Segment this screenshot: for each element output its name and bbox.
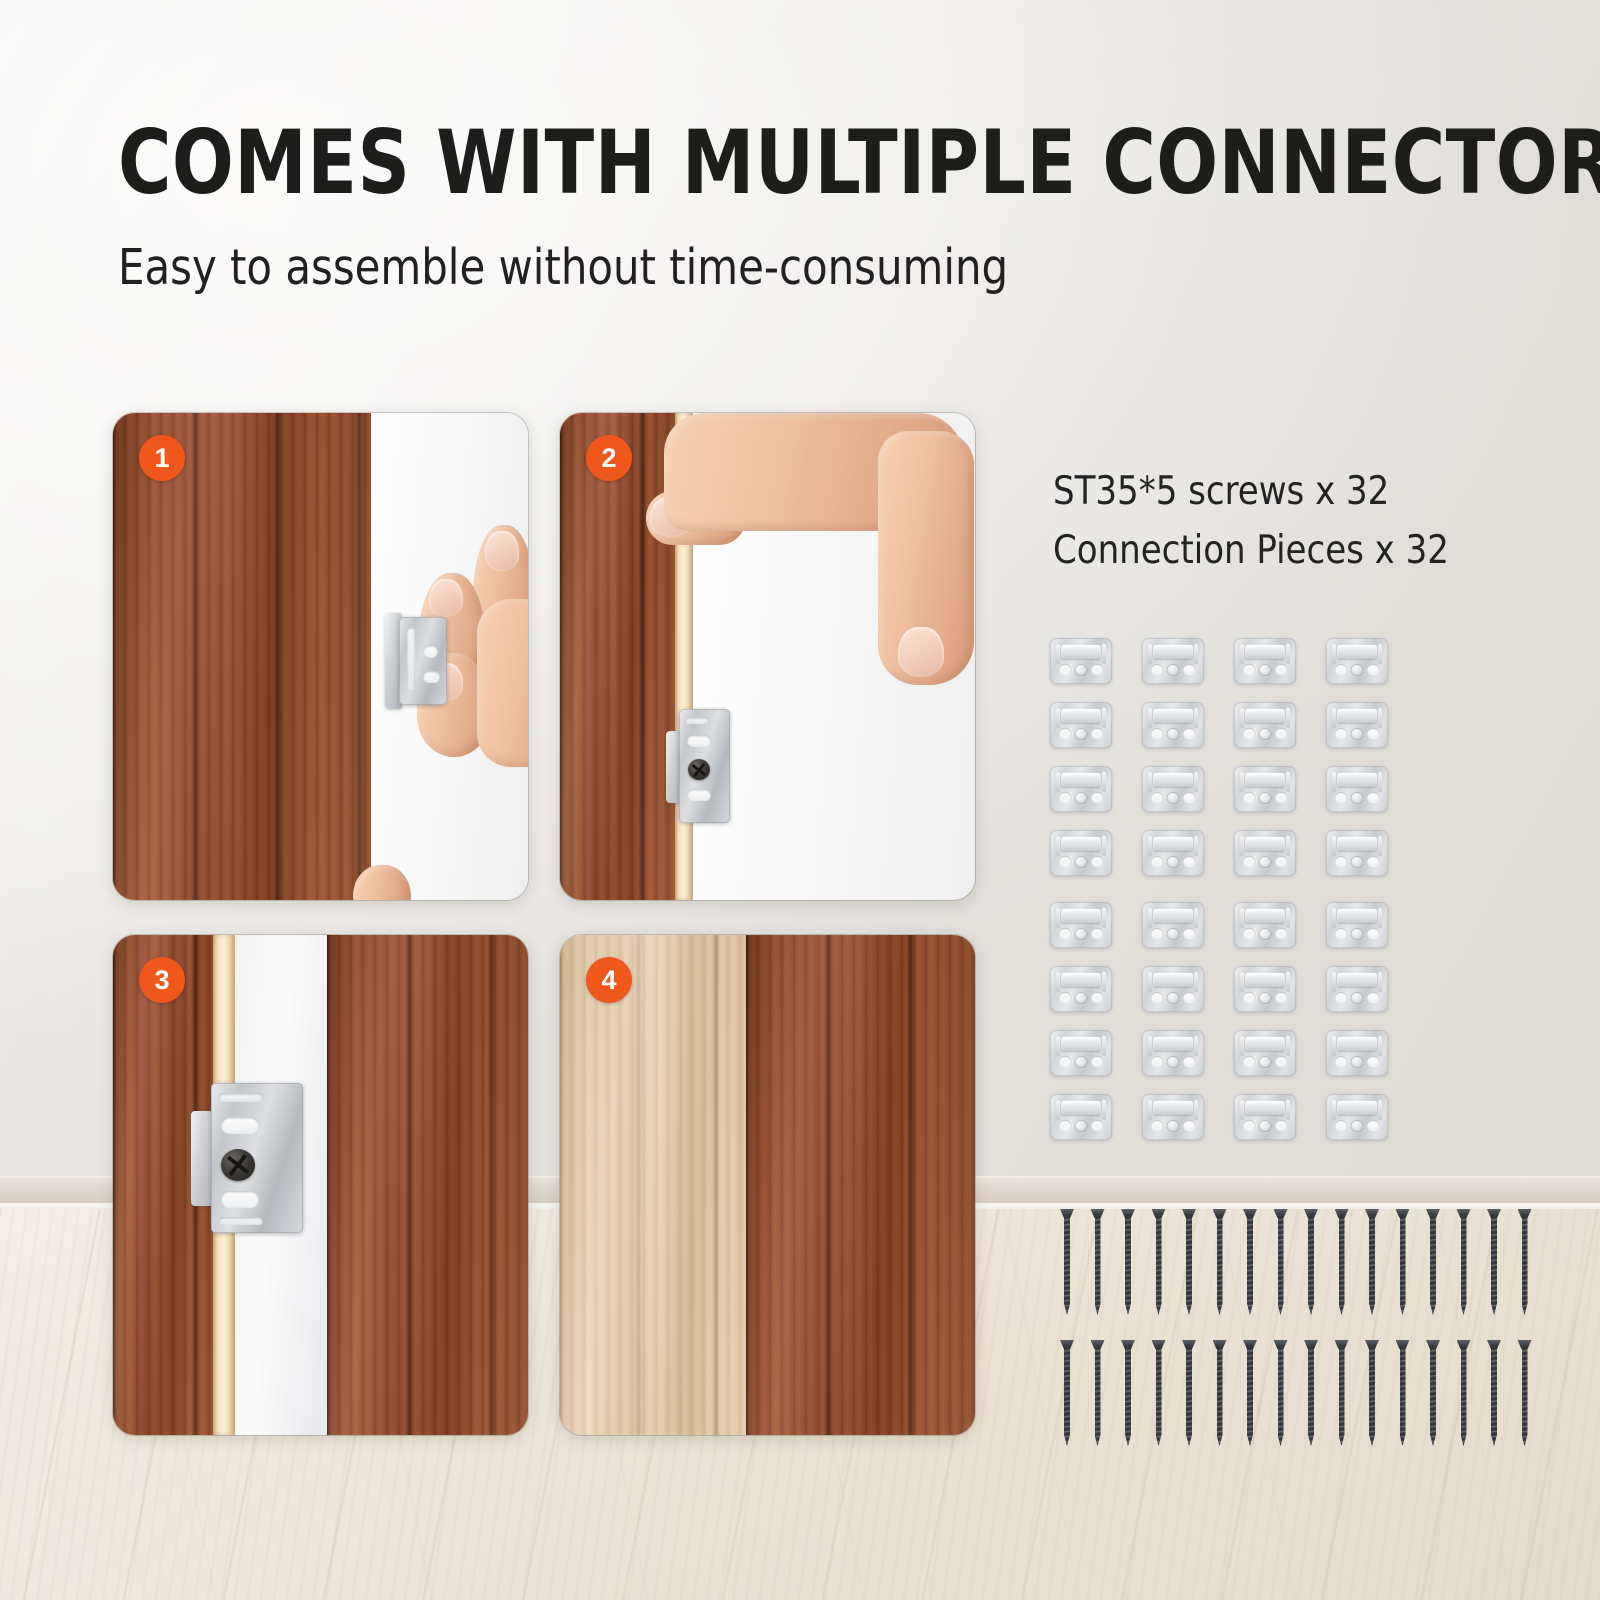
screw-shaft (1430, 1348, 1436, 1446)
screw-shaft (1095, 1217, 1101, 1315)
connector-hole-right (1183, 1056, 1195, 1067)
screw-shaft (1247, 1348, 1253, 1446)
bracket-screw (688, 759, 710, 780)
connector-rail-left (1332, 1036, 1336, 1056)
connection-piece (1326, 1094, 1388, 1140)
connection-piece (1050, 966, 1112, 1012)
screw-head (1060, 1340, 1074, 1349)
screw-shaft (1156, 1217, 1162, 1315)
connection-piece (1326, 766, 1388, 812)
connector-hole-left (1059, 1056, 1071, 1067)
connector-rail-left (1148, 772, 1152, 792)
screw-head (1121, 1209, 1135, 1218)
connector-rail-right (1286, 908, 1290, 928)
screw-shaft (1278, 1348, 1284, 1446)
screw (1216, 1340, 1224, 1446)
connector-center-hole (1075, 664, 1088, 676)
screw-head (1365, 1209, 1379, 1218)
connection-piece (1142, 1030, 1204, 1076)
screw (1063, 1340, 1071, 1446)
dark-wood-panel (746, 935, 975, 1435)
connector-center-hole (1167, 928, 1180, 940)
connector-hole-left (1059, 928, 1071, 939)
connector-center-hole (1259, 728, 1272, 740)
screw-head (1213, 1340, 1227, 1349)
screw (1094, 1340, 1102, 1446)
connector-rail-right (1102, 972, 1106, 992)
connector-hole-right (1091, 992, 1103, 1003)
connector-hole-right (1275, 992, 1287, 1003)
screw (1521, 1209, 1529, 1315)
connector-rail-right (1378, 644, 1382, 664)
connection-piece (1142, 830, 1204, 876)
connector-hole-left (1059, 1120, 1071, 1131)
connector-rail-left (1148, 644, 1152, 664)
connection-piece (1050, 830, 1112, 876)
metal-connector-bracket (666, 709, 730, 823)
connector-hole-right (1275, 728, 1287, 739)
connector-hole-right (1275, 664, 1287, 675)
screw-shaft (1186, 1348, 1192, 1446)
connector-top-flange (1153, 909, 1193, 923)
step-panel-2[interactable]: 2 (560, 413, 975, 900)
connector-center-hole (1351, 664, 1364, 676)
connection-piece (1050, 766, 1112, 812)
connector-rail-right (1102, 908, 1106, 928)
connector-hole-left (1059, 856, 1071, 867)
connector-top-flange (1061, 773, 1101, 787)
connector-rail-left (1056, 1036, 1060, 1056)
metal-connector-bracket (385, 613, 447, 709)
connector-top-flange (1337, 973, 1377, 987)
connector-center-hole (1351, 1056, 1364, 1068)
connector-hole-left (1243, 1120, 1255, 1131)
connector-top-flange (1061, 837, 1101, 851)
connector-rail-right (1194, 1036, 1198, 1056)
connection-piece (1050, 902, 1112, 948)
connector-grid-group-b (1050, 902, 1388, 1140)
screw-row (1063, 1209, 1529, 1315)
connector-hole-right (1275, 792, 1287, 803)
connector-hole-right (1091, 856, 1103, 867)
connector-center-hole (1259, 664, 1272, 676)
connector-top-flange (1245, 1101, 1285, 1115)
screw-shaft (1522, 1217, 1528, 1315)
connector-hole-right (1367, 664, 1379, 675)
screw (1277, 1340, 1285, 1446)
connector-rail-right (1378, 908, 1382, 928)
connector-rail-right (1102, 1036, 1106, 1056)
connector-center-hole (1351, 928, 1364, 940)
screw (1124, 1209, 1132, 1315)
screw-shaft (1339, 1348, 1345, 1446)
connector-hole-right (1183, 928, 1195, 939)
screw (1307, 1340, 1315, 1446)
connector-top-flange (1153, 1101, 1193, 1115)
connector-top-flange (1245, 1037, 1285, 1051)
connector-hole-right (1275, 1120, 1287, 1131)
connector-hole-left (1335, 664, 1347, 675)
connector-top-flange (1337, 1101, 1377, 1115)
connector-hole-left (1335, 928, 1347, 939)
connector-hole-right (1275, 928, 1287, 939)
connector-center-hole (1075, 1120, 1088, 1132)
connector-center-hole (1167, 1120, 1180, 1132)
connector-rail-right (1286, 708, 1290, 728)
screw (1277, 1209, 1285, 1315)
step-badge-4: 4 (586, 957, 632, 1003)
screw-shaft (1308, 1348, 1314, 1446)
connector-top-flange (1337, 709, 1377, 723)
connector-top-flange (1061, 709, 1101, 723)
connector-center-hole (1351, 856, 1364, 868)
parts-connectors-label: Connection Pieces x 32 (1053, 521, 1449, 580)
screw-shaft (1247, 1217, 1253, 1315)
dark-wood-panel (113, 413, 371, 900)
connection-piece (1234, 830, 1296, 876)
connector-rail-left (1148, 908, 1152, 928)
step-badge-2: 2 (586, 435, 632, 481)
step-panel-4[interactable]: 4 (560, 935, 975, 1435)
connector-top-flange (1061, 909, 1101, 923)
connector-rail-left (1056, 1100, 1060, 1120)
screw-shaft (1461, 1348, 1467, 1446)
connector-hole-left (1243, 992, 1255, 1003)
connector-rail-right (1194, 908, 1198, 928)
connection-piece (1142, 902, 1204, 948)
page-subtitle: Easy to assemble without time-consuming (118, 242, 1600, 293)
connector-hole-right (1183, 728, 1195, 739)
connector-rail-left (1240, 772, 1244, 792)
connector-center-hole (1075, 1056, 1088, 1068)
connector-hole-right (1367, 792, 1379, 803)
connection-piece (1234, 902, 1296, 948)
connector-hole-right (1367, 856, 1379, 867)
screw-head (1060, 1209, 1074, 1218)
screw-shaft (1278, 1217, 1284, 1315)
screw-head (1121, 1340, 1135, 1349)
parts-list: ST35*5 screws x 32 Connection Pieces x 3… (1053, 462, 1461, 581)
connector-hole-right (1091, 728, 1103, 739)
connection-piece (1050, 1094, 1112, 1140)
connector-hole-right (1275, 1056, 1287, 1067)
bracket-hole-upper (687, 735, 711, 747)
connector-center-hole (1075, 728, 1088, 740)
connector-rail-left (1240, 708, 1244, 728)
connector-hole-left (1151, 792, 1163, 803)
connector-rail-right (1286, 772, 1290, 792)
screw-head (1304, 1340, 1318, 1349)
connector-hole-left (1243, 664, 1255, 675)
connector-center-hole (1259, 792, 1272, 804)
connector-hole-right (1183, 1120, 1195, 1131)
connector-rail-left (1240, 908, 1244, 928)
connector-top-flange (1153, 837, 1193, 851)
bracket-hole-lower (687, 789, 711, 801)
connector-rail-right (1378, 1100, 1382, 1120)
connector-rail-left (1148, 1100, 1152, 1120)
screw-head (1182, 1209, 1196, 1218)
step-1-photo: 1 (113, 413, 528, 900)
screw-head (1426, 1209, 1440, 1218)
connector-top-flange (1153, 973, 1193, 987)
connector-top-flange (1337, 837, 1377, 851)
screw (1155, 1209, 1163, 1315)
screw (1094, 1209, 1102, 1315)
connector-rail-right (1194, 772, 1198, 792)
connector-top-flange (1337, 1037, 1377, 1051)
screw (1429, 1209, 1437, 1315)
screw-head (1304, 1209, 1318, 1218)
connector-rail-right (1194, 972, 1198, 992)
connection-piece (1326, 830, 1388, 876)
screw (1399, 1209, 1407, 1315)
connector-rail-right (1378, 708, 1382, 728)
page-title: COMES WITH MULTIPLE CONNECTORS (118, 118, 1600, 208)
connector-hole-left (1151, 664, 1163, 675)
connector-center-hole (1167, 728, 1180, 740)
connector-hole-left (1335, 992, 1347, 1003)
screw-shaft (1217, 1348, 1223, 1446)
connector-hole-left (1243, 792, 1255, 803)
connector-rail-left (1056, 908, 1060, 928)
connector-rail-left (1240, 972, 1244, 992)
parts-screws-label: ST35*5 screws x 32 (1053, 462, 1449, 521)
connector-hole-right (1091, 792, 1103, 803)
screw (1246, 1340, 1254, 1446)
connector-rail-right (1194, 644, 1198, 664)
screw-shaft (1308, 1217, 1314, 1315)
connector-hole-left (1151, 856, 1163, 867)
step-panel-3[interactable]: 3 (113, 935, 528, 1435)
screw (1368, 1209, 1376, 1315)
connector-rail-left (1332, 972, 1336, 992)
connection-piece (1234, 766, 1296, 812)
screw (1307, 1209, 1315, 1315)
connector-top-flange (1337, 645, 1377, 659)
screw (1399, 1340, 1407, 1446)
connector-hole-left (1059, 792, 1071, 803)
screw (1521, 1340, 1529, 1446)
connector-center-hole (1075, 928, 1088, 940)
screw-shaft (1461, 1217, 1467, 1315)
screw-shaft (1217, 1217, 1223, 1315)
connector-top-flange (1337, 773, 1377, 787)
step-panel-1[interactable]: 1 (113, 413, 528, 900)
screw (1155, 1340, 1163, 1446)
bracket-slot-top (219, 1093, 263, 1102)
connector-rail-right (1102, 836, 1106, 856)
connector-hole-right (1183, 792, 1195, 803)
connector-center-hole (1259, 928, 1272, 940)
screw (1185, 1209, 1193, 1315)
connection-piece (1050, 638, 1112, 684)
screw (1338, 1209, 1346, 1315)
connector-rail-right (1194, 1100, 1198, 1120)
screw-shaft (1125, 1348, 1131, 1446)
connector-top-flange (1337, 909, 1377, 923)
connection-piece (1326, 702, 1388, 748)
bracket-hole-upper (423, 645, 438, 658)
connector-center-hole (1167, 664, 1180, 676)
connector-center-hole (1075, 856, 1088, 868)
metal-connector-bracket (191, 1083, 303, 1233)
connector-hole-left (1243, 928, 1255, 939)
connector-top-flange (1245, 645, 1285, 659)
connector-top-flange (1061, 645, 1101, 659)
connector-top-flange (1153, 1037, 1193, 1051)
connection-piece (1326, 966, 1388, 1012)
connector-rail-right (1286, 836, 1290, 856)
connector-hole-right (1367, 1056, 1379, 1067)
connector-rail-right (1194, 836, 1198, 856)
connector-center-hole (1351, 792, 1364, 804)
screw-head (1152, 1209, 1166, 1218)
connector-top-flange (1153, 773, 1193, 787)
connector-hole-right (1367, 928, 1379, 939)
connector-hole-left (1335, 792, 1347, 803)
connector-rail-right (1102, 772, 1106, 792)
screw (1246, 1209, 1254, 1315)
screw-head (1274, 1209, 1288, 1218)
bracket-hole-upper (221, 1117, 259, 1134)
connector-center-hole (1259, 1120, 1272, 1132)
connection-piece (1050, 1030, 1112, 1076)
screw (1124, 1340, 1132, 1446)
connector-top-flange (1061, 973, 1101, 987)
connector-top-flange (1245, 773, 1285, 787)
connector-rail-right (1286, 972, 1290, 992)
connector-rail-left (1056, 772, 1060, 792)
connector-rail-right (1102, 708, 1106, 728)
light-wood-panel (560, 935, 746, 1435)
connector-rail-left (1056, 972, 1060, 992)
screw (1185, 1340, 1193, 1446)
step-badge-1: 1 (139, 435, 185, 481)
connector-center-hole (1167, 792, 1180, 804)
connector-hole-left (1335, 728, 1347, 739)
connector-hole-right (1367, 1120, 1379, 1131)
connector-hole-left (1335, 1120, 1347, 1131)
connection-piece (1326, 1030, 1388, 1076)
step-4-photo: 4 (560, 935, 975, 1435)
connection-piece (1234, 966, 1296, 1012)
connector-hole-left (1335, 856, 1347, 867)
connector-rail-left (1332, 708, 1336, 728)
screw-shaft (1339, 1217, 1345, 1315)
connection-piece (1326, 902, 1388, 948)
connector-rail-left (1148, 1036, 1152, 1056)
connector-hole-right (1367, 728, 1379, 739)
connection-piece (1050, 702, 1112, 748)
connector-top-flange (1245, 973, 1285, 987)
connector-hole-left (1151, 992, 1163, 1003)
screw-head (1091, 1340, 1105, 1349)
connector-top-flange (1153, 709, 1193, 723)
connector-rail-left (1332, 908, 1336, 928)
screw-head (1426, 1340, 1440, 1349)
screw-head (1396, 1340, 1410, 1349)
connector-hole-left (1059, 664, 1071, 675)
connector-center-hole (1351, 1120, 1364, 1132)
bracket-hole-lower (423, 671, 440, 683)
screw (1429, 1340, 1437, 1446)
connector-hole-left (1059, 728, 1071, 739)
connection-piece (1234, 1094, 1296, 1140)
connector-hole-right (1367, 992, 1379, 1003)
bracket-hole-lower (221, 1191, 259, 1208)
connector-rail-left (1332, 644, 1336, 664)
connection-piece (1142, 702, 1204, 748)
hand (646, 413, 975, 713)
connection-piece (1326, 638, 1388, 684)
connector-hole-right (1183, 856, 1195, 867)
connector-hole-right (1275, 856, 1287, 867)
connection-piece (1142, 1094, 1204, 1140)
screw (1490, 1209, 1498, 1315)
connector-top-flange (1245, 837, 1285, 851)
connector-hole-left (1151, 928, 1163, 939)
bracket-screw (221, 1149, 255, 1181)
connector-rail-left (1148, 836, 1152, 856)
screw (1460, 1209, 1468, 1315)
connector-rail-left (1332, 836, 1336, 856)
connector-rail-left (1148, 972, 1152, 992)
screw-shaft (1491, 1348, 1497, 1446)
screw-shaft (1369, 1217, 1375, 1315)
screw-shaft (1369, 1348, 1375, 1446)
screw-head (1243, 1340, 1257, 1349)
connector-grid-group-a (1050, 638, 1388, 876)
screw-head (1457, 1340, 1471, 1349)
connection-piece (1142, 766, 1204, 812)
connector-rail-right (1286, 644, 1290, 664)
connector-rail-left (1332, 1100, 1336, 1120)
connector-rail-right (1102, 1100, 1106, 1120)
connection-piece (1234, 702, 1296, 748)
screw-head (1182, 1340, 1196, 1349)
screw-shaft (1400, 1348, 1406, 1446)
screw-head (1457, 1209, 1471, 1218)
screw-shaft (1400, 1217, 1406, 1315)
connector-hole-right (1091, 1056, 1103, 1067)
connector-hole-right (1091, 1120, 1103, 1131)
screw-head (1152, 1340, 1166, 1349)
connector-rail-left (1240, 836, 1244, 856)
connector-rail-left (1332, 772, 1336, 792)
index-fingernail (485, 531, 519, 571)
screw (1490, 1340, 1498, 1446)
screw (1063, 1209, 1071, 1315)
screw-head (1274, 1340, 1288, 1349)
connector-rail-right (1194, 708, 1198, 728)
connector-center-hole (1075, 792, 1088, 804)
connector-top-flange (1153, 645, 1193, 659)
screw-shaft (1522, 1348, 1528, 1446)
connector-hole-left (1151, 1120, 1163, 1131)
bracket-slot-bottom (219, 1217, 263, 1225)
connector-rail-right (1286, 1100, 1290, 1120)
screw-shaft (1095, 1348, 1101, 1446)
connector-center-hole (1351, 992, 1364, 1004)
screw-shaft (1064, 1348, 1070, 1446)
connector-center-hole (1351, 728, 1364, 740)
connector-rail-right (1378, 772, 1382, 792)
thumbnail (898, 627, 944, 677)
connector-rail-left (1240, 644, 1244, 664)
connector-top-flange (1061, 1101, 1101, 1115)
connector-hole-right (1183, 664, 1195, 675)
